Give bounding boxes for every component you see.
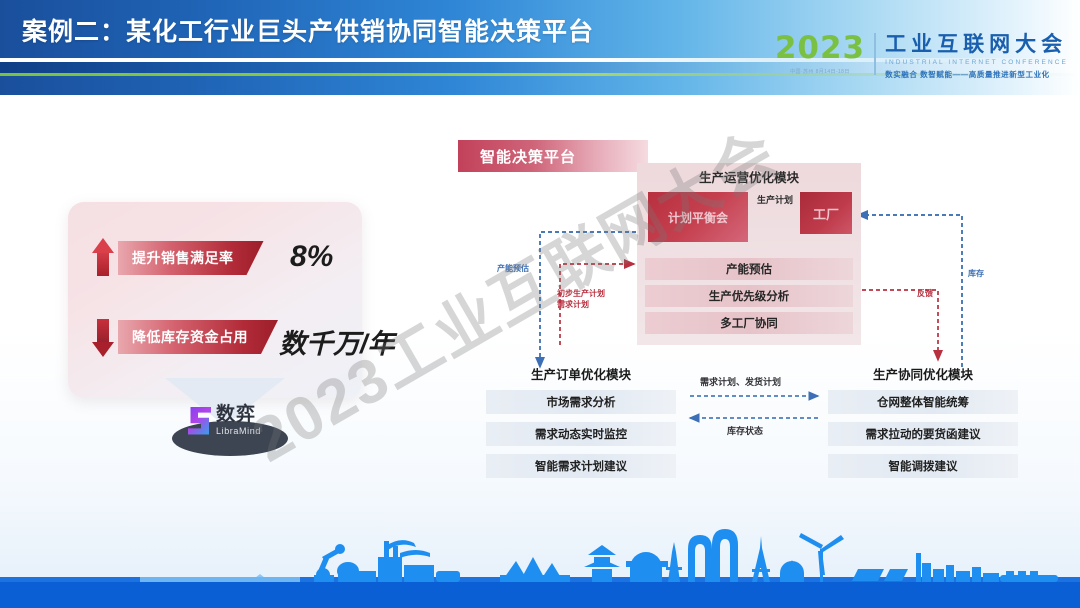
box-plan-balance-meeting: 计划平衡会 (648, 192, 748, 242)
arrow-label-feedback: 反馈 (917, 288, 933, 299)
module-row: 产能预估 (645, 258, 853, 280)
module-title: 生产订单优化模块 (486, 364, 676, 383)
arrow-label-demand-shipping-plan: 需求计划、发货计划 (700, 375, 781, 388)
arrow-label-production-plan: 生产计划 (757, 194, 791, 206)
module-title: 生产协同优化模块 (828, 364, 1018, 383)
module-row: 智能调拨建议 (828, 454, 1018, 478)
arrow-label-capacity-forecast: 产能预估 (497, 263, 529, 274)
arrow-label-draft-plan: 初步生产计划需求计划 (557, 288, 605, 310)
arrow-label-inventory-status: 库存状态 (727, 424, 763, 437)
librarmind-mark-icon (186, 407, 211, 435)
brand-name-en: LibraMind (216, 427, 261, 436)
module-row: 市场需求分析 (486, 390, 676, 414)
module-row: 仓网整体智能统筹 (828, 390, 1018, 414)
slide-canvas: 案例二：某化工行业巨头产供销协同智能决策平台 2023 中国·苏州 8月14日-… (0, 0, 1080, 608)
brand-name-cn: 数弈 (216, 405, 261, 424)
module-title: 生产运营优化模块 (637, 167, 861, 186)
brand-logo: 数弈 LibraMind (186, 405, 261, 436)
platform-label: 智能决策平台 (458, 140, 648, 172)
brand-text: 数弈 LibraMind (216, 405, 261, 436)
module-row: 智能需求计划建议 (486, 454, 676, 478)
arrow-label-stock: 库存 (968, 268, 984, 279)
box-factory: 工厂 (800, 192, 852, 234)
module-row: 多工厂协同 (645, 312, 853, 334)
module-row: 需求动态实时监控 (486, 422, 676, 446)
module-row: 需求拉动的要货函建议 (828, 422, 1018, 446)
module-row: 生产优先级分析 (645, 285, 853, 307)
footer-skyline (0, 513, 1080, 608)
